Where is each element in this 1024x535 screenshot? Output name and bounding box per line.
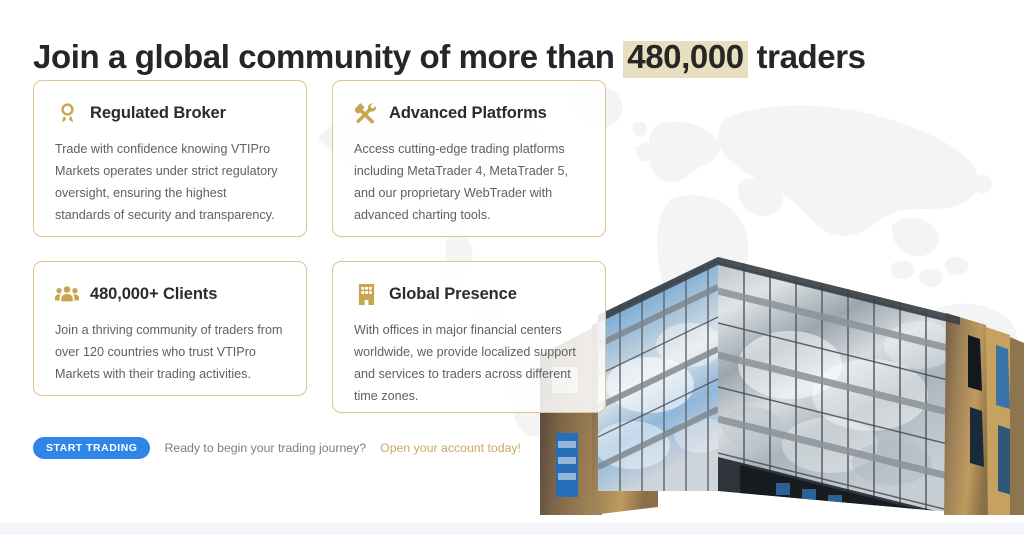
headline-after: traders	[748, 38, 866, 75]
card-header: 480,000+ Clients	[55, 282, 285, 306]
card-title: Regulated Broker	[90, 104, 226, 123]
headline-highlight-number: 480,000	[623, 38, 748, 78]
card-title: Global Presence	[389, 285, 517, 304]
card-body: With offices in major financial centers …	[354, 319, 584, 407]
building-icon	[354, 282, 378, 306]
start-trading-button[interactable]: START TRADING	[33, 437, 150, 459]
card-title: 480,000+ Clients	[90, 285, 217, 304]
card-title: Advanced Platforms	[389, 104, 547, 123]
card-header: Advanced Platforms	[354, 101, 584, 125]
users-group-icon	[55, 282, 79, 306]
cta-prompt-text: Ready to begin your trading journey?	[164, 441, 366, 455]
card-row-bottom: 480,000+ Clients Join a thriving communi…	[33, 261, 607, 413]
card-row-top: Regulated Broker Trade with confidence k…	[33, 80, 607, 237]
feature-card-clients[interactable]: 480,000+ Clients Join a thriving communi…	[33, 261, 307, 396]
feature-card-global-presence[interactable]: Global Presence With offices in major fi…	[332, 261, 606, 413]
headline-before: Join a global community of more than	[33, 38, 623, 75]
feature-card-grid: Regulated Broker Trade with confidence k…	[33, 80, 607, 413]
feature-card-regulated-broker[interactable]: Regulated Broker Trade with confidence k…	[33, 80, 307, 237]
page-root: Join a global community of more than 480…	[0, 0, 1024, 535]
open-account-link[interactable]: Open your account today!	[380, 441, 521, 455]
award-medal-icon	[55, 101, 79, 125]
feature-card-advanced-platforms[interactable]: Advanced Platforms Access cutting-edge t…	[332, 80, 606, 237]
content-layer: Join a global community of more than 480…	[0, 0, 1024, 535]
card-body: Trade with confidence knowing VTIPro Mar…	[55, 138, 285, 226]
card-body: Join a thriving community of traders fro…	[55, 319, 285, 385]
page-title: Join a global community of more than 480…	[33, 36, 866, 78]
tools-icon	[354, 101, 378, 125]
cta-row: START TRADING Ready to begin your tradin…	[33, 437, 521, 459]
card-header: Regulated Broker	[55, 101, 285, 125]
card-header: Global Presence	[354, 282, 584, 306]
card-body: Access cutting-edge trading platforms in…	[354, 138, 584, 226]
